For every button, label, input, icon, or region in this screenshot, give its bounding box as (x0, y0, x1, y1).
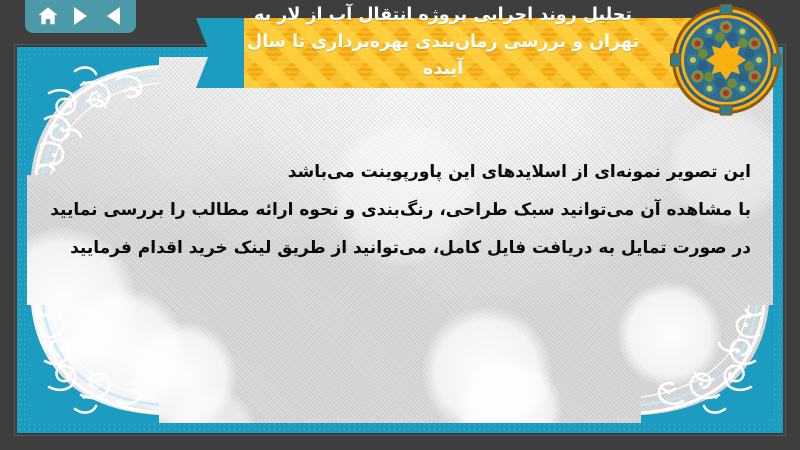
triangle-left-icon (107, 7, 120, 25)
body-line: این تصویر نمونه‌ای از اسلایدهای این پاور… (51, 153, 751, 191)
back-button[interactable] (103, 5, 125, 27)
banner-bar (244, 18, 744, 88)
triangle-right-icon (74, 7, 87, 25)
navigation-bar (25, 0, 136, 33)
forward-button[interactable] (70, 5, 92, 27)
arabesque-corner-icon (27, 305, 159, 423)
home-button[interactable] (37, 5, 59, 27)
home-icon (37, 5, 59, 27)
arabesque-corner-icon (641, 305, 773, 423)
slide-viewer: این تصویر نمونه‌ای از اسلایدهای این پاور… (0, 0, 800, 450)
body-line: در صورت تمایل به دریافت فایل کامل، می‌تو… (51, 229, 751, 267)
persian-medallion-icon (670, 4, 782, 116)
slide-body-text: این تصویر نمونه‌ای از اسلایدهای این پاور… (51, 153, 751, 267)
banner-weave-pattern (244, 18, 744, 88)
body-line: با مشاهده آن می‌توانید سبک طراحی، رنگ‌بن… (51, 191, 751, 229)
